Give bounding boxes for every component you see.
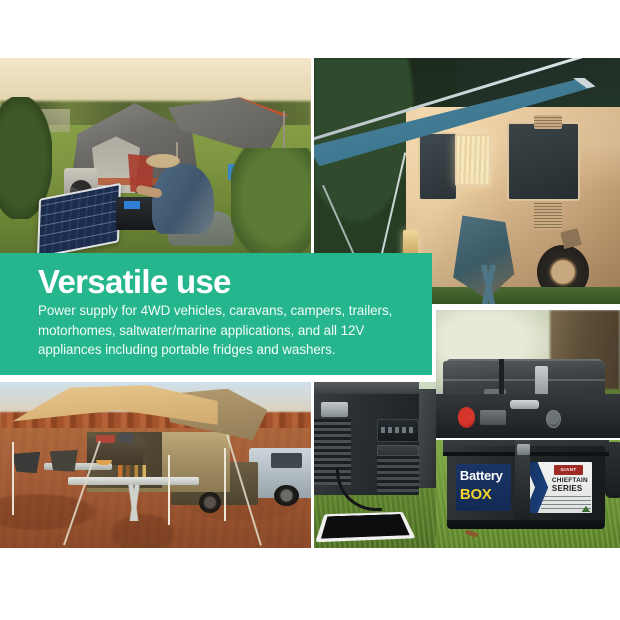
brand-logo-giant: GIANT [554,465,583,475]
series-label-line1: CHIEFTAIN [552,477,592,484]
battery-box-badge-line1: Battery [460,467,512,485]
camp-chair-left-1 [12,452,40,474]
fridge-lid-seam [443,379,605,381]
control-panel [480,410,506,425]
power-box-display [124,201,140,209]
awning-upright-right [224,448,226,521]
battery-box-base [447,520,605,529]
banner-body-line-2: motorhomes, saltwater/marine application… [38,321,416,341]
cooking-pot [118,433,134,443]
fridge-side-handle [321,402,348,417]
awning-upright-mid [168,455,170,525]
banner-heading: Versatile use [38,264,231,300]
fridge-display-readout [381,427,415,434]
banner-body-line-1: Power supply for 4WD vehicles, caravans,… [38,301,416,321]
round-socket-port [546,410,561,428]
bottles-and-jars [118,465,155,477]
feature-banner: Versatile use Power supply for 4WD vehic… [0,253,432,375]
battery-box-badge-line2: BOX [460,485,512,506]
series-label-features [541,496,591,509]
trailer-wheel [199,492,221,514]
person-hat [146,154,180,168]
photo-portable-fridge-closeup [436,310,620,438]
photo-battery-box: Battery BOX GIANT CHIEFTAIN SERIES [436,440,620,548]
banner-body-line-3: appliances including portable fridges an… [38,340,416,360]
solar-cell-grid [39,185,119,254]
camp-chair-left-2 [50,450,78,472]
tablet-device [316,512,416,542]
photo-camping-tent-solar-panel [0,58,311,254]
fridge-front-vents [377,455,418,492]
camp-chair-legs [443,265,535,304]
red-dial-knob [458,407,475,427]
ute-wheel [274,485,299,507]
caravan-door-window [418,132,458,201]
caravan-vent-upper [534,115,562,130]
caravan-vent-lower [534,201,562,231]
battery-box-strap-clip [517,444,530,455]
image-collage: Battery BOX GIANT CHIEFTAIN SERIES Versa… [0,0,620,620]
folding-table-legs [75,485,193,522]
carry-handle [510,400,539,409]
banner-body-text: Power supply for 4WD vehicles, caravans,… [38,301,416,360]
caravan-lit-window [455,134,492,186]
photo-outback-camp-4wd [0,382,311,548]
ute-window [271,453,302,468]
fridge-top-edge [314,382,419,394]
mixing-bowl [96,460,112,465]
fridge-strap [499,359,505,400]
awning-upright-left [12,442,14,515]
adjacent-case [416,389,436,489]
series-label-line2: SERIES [552,484,592,493]
photo-fridge-tablet-grass [314,382,436,548]
bush-right [231,148,311,254]
person-torso [152,164,214,235]
caravan-side-window [507,122,580,201]
